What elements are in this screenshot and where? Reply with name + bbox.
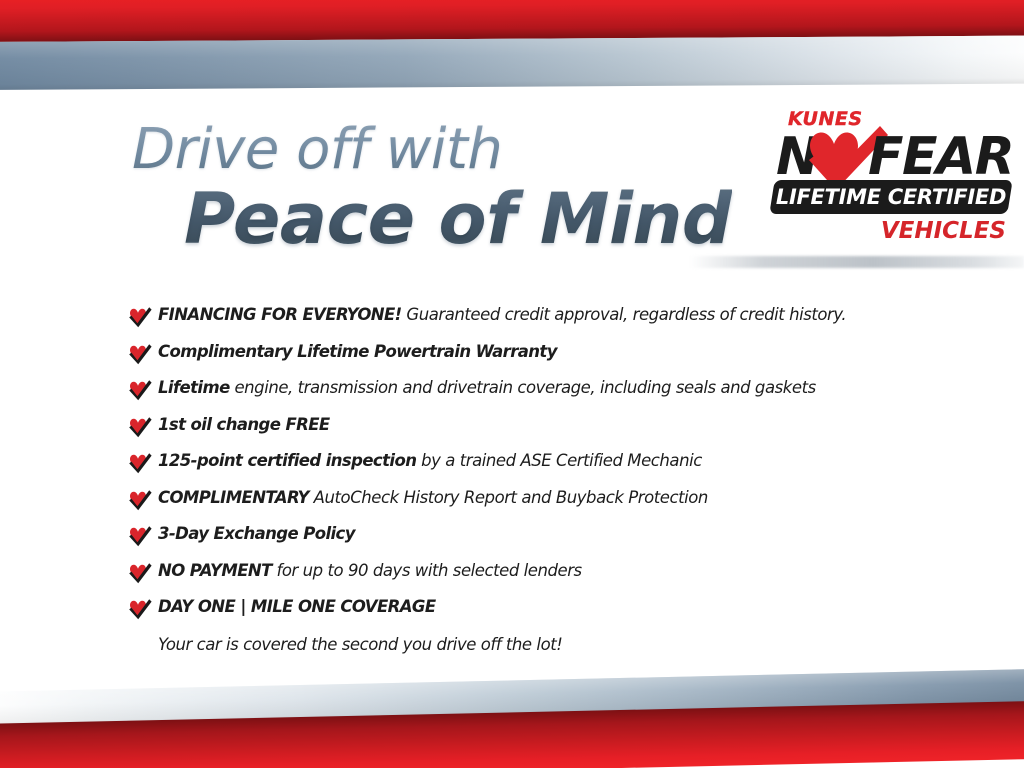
list-item-text: COMPLIMENTARY AutoCheck History Report a… <box>158 488 928 508</box>
list-item-bold: 1st oil change FREE <box>158 415 330 434</box>
list-item: NO PAYMENT for up to 90 days with select… <box>128 561 928 584</box>
kunes-no-fear-logo: KUNES N FEAR LIFETIME CERTIFIED VEHICLES <box>770 108 1012 248</box>
heart-check-icon <box>128 379 152 401</box>
list-item-bold: FINANCING FOR EVERYONE! <box>158 305 402 324</box>
logo-lifetime-certified-text: LIFETIME CERTIFIED <box>772 180 1010 214</box>
list-item-rest: by a trained ASE Certified Mechanic <box>416 451 702 470</box>
list-item: Lifetime engine, transmission and drivet… <box>128 378 928 401</box>
logo-word-fear: FEAR <box>868 128 1013 186</box>
list-item: COMPLIMENTARY AutoCheck History Report a… <box>128 488 928 511</box>
promotional-poster: Drive off with Peace of Mind KUNES N FEA… <box>0 0 1024 768</box>
list-item-bold: COMPLIMENTARY <box>158 488 309 507</box>
headline-line-2: Peace of Mind <box>184 184 732 254</box>
list-item-bold: Lifetime <box>158 378 230 397</box>
headline-line-1: Drive off with <box>132 122 732 178</box>
heart-check-icon <box>128 598 152 620</box>
list-item: 125-point certified inspection by a trai… <box>128 451 928 474</box>
list-item-bold: 3-Day Exchange Policy <box>158 524 355 543</box>
headline-divider <box>690 256 1024 268</box>
heart-check-icon <box>128 562 152 584</box>
list-item: Complimentary Lifetime Powertrain Warran… <box>128 342 928 365</box>
benefits-list: FINANCING FOR EVERYONE! Guaranteed credi… <box>128 305 928 656</box>
list-item-bold: DAY ONE | MILE ONE COVERAGE <box>158 597 436 616</box>
list-item-rest: engine, transmission and drivetrain cove… <box>230 378 816 397</box>
list-item-bold: Complimentary Lifetime Powertrain Warran… <box>158 342 557 361</box>
bottom-banner <box>0 682 1024 768</box>
top-banner <box>0 0 1024 96</box>
heart-check-icon <box>128 452 152 474</box>
top-gray-stripe-shading <box>0 36 1024 90</box>
list-item-text: NO PAYMENT for up to 90 days with select… <box>158 561 928 581</box>
list-item: 3-Day Exchange Policy <box>128 524 928 547</box>
list-item-text: Complimentary Lifetime Powertrain Warran… <box>158 342 928 362</box>
list-item: 1st oil change FREE <box>128 415 928 438</box>
heart-check-icon <box>128 489 152 511</box>
headline: Drive off with Peace of Mind <box>132 122 732 254</box>
list-item: FINANCING FOR EVERYONE! Guaranteed credi… <box>128 305 928 328</box>
list-item-rest: for up to 90 days with selected lenders <box>272 561 582 580</box>
logo-no-fear-wordmark: N FEAR <box>776 128 1012 186</box>
list-item: DAY ONE | MILE ONE COVERAGE Your car is … <box>128 597 928 656</box>
logo-word-vehicles: VEHICLES <box>881 218 1006 244</box>
list-item-text: FINANCING FOR EVERYONE! Guaranteed credi… <box>158 305 928 325</box>
heart-check-icon <box>128 306 152 328</box>
list-item-text: 1st oil change FREE <box>158 415 928 435</box>
list-item-text: 125-point certified inspection by a trai… <box>158 451 928 471</box>
list-item-rest: AutoCheck History Report and Buyback Pro… <box>309 488 708 507</box>
heart-check-icon <box>128 525 152 547</box>
list-item-bold: NO PAYMENT <box>158 561 272 580</box>
heart-check-icon <box>128 416 152 438</box>
list-item-bold: 125-point certified inspection <box>158 451 416 470</box>
list-item-text: 3-Day Exchange Policy <box>158 524 928 544</box>
list-item-text: DAY ONE | MILE ONE COVERAGE <box>158 597 928 617</box>
list-item-subtext: Your car is covered the second you drive… <box>158 634 928 656</box>
list-item-text: Lifetime engine, transmission and drivet… <box>158 378 928 398</box>
list-item-rest: Guaranteed credit approval, regardless o… <box>402 305 847 324</box>
heart-check-icon <box>128 343 152 365</box>
